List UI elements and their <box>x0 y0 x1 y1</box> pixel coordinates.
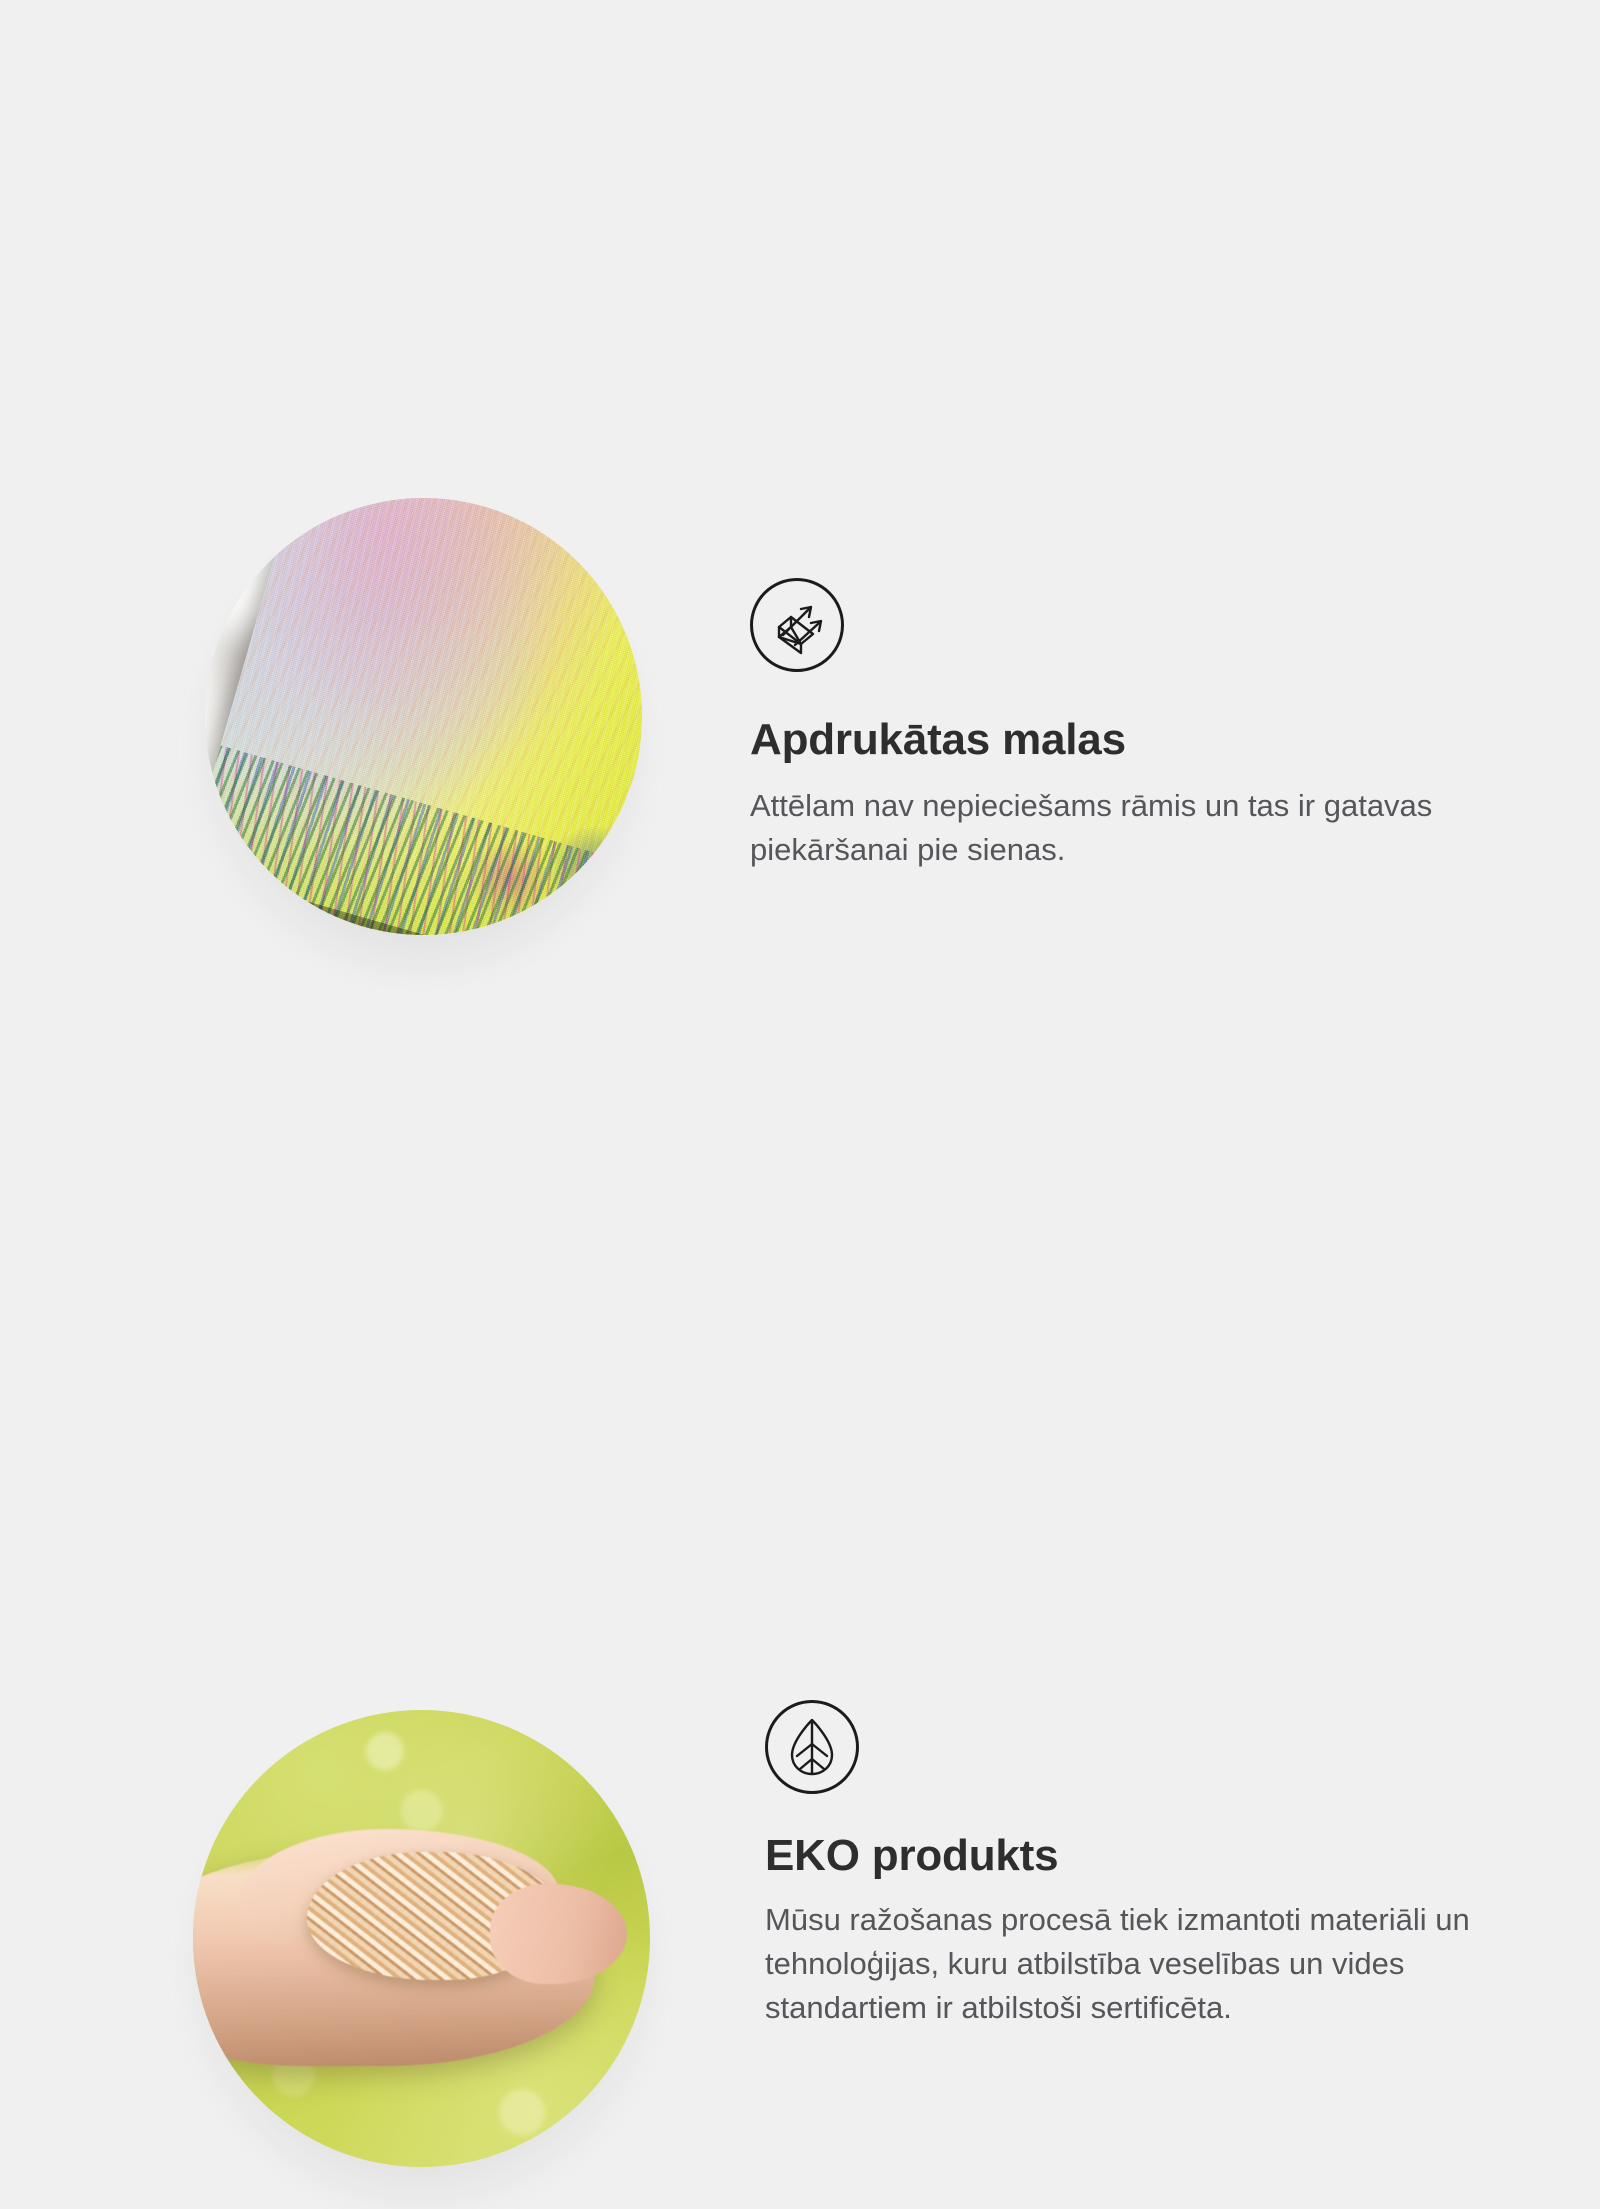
feature-copy-eco-product: EKO produkts Mūsu ražošanas procesā tiek… <box>765 1700 1505 2030</box>
hand-wood-chips-photo <box>193 1710 650 2167</box>
feature-copy-printed-edges: Apdrukātas malas Attēlam nav nepieciešam… <box>750 578 1490 872</box>
feature-title: EKO produkts <box>765 1832 1505 1880</box>
leaf-icon <box>765 1700 859 1794</box>
feature-title: Apdrukātas malas <box>750 716 1490 764</box>
printed-edges-glyph <box>765 593 829 657</box>
leaf-glyph <box>783 1716 841 1778</box>
photo-circle-mask <box>193 1710 650 2167</box>
product-feature-page: Apdrukātas malas Attēlam nav nepieciešam… <box>0 0 1600 1600</box>
feature-block-eco-product: EKO produkts Mūsu ražošanas procesā tiek… <box>0 845 1600 1345</box>
eco-photo-scene <box>193 1710 650 2167</box>
printed-edges-icon <box>750 578 844 672</box>
feature-description: Mūsu ražošanas procesā tiek izmantoti ma… <box>765 1898 1477 2030</box>
feature-block-printed-edges: Apdrukātas malas Attēlam nav nepieciešam… <box>0 240 1600 760</box>
